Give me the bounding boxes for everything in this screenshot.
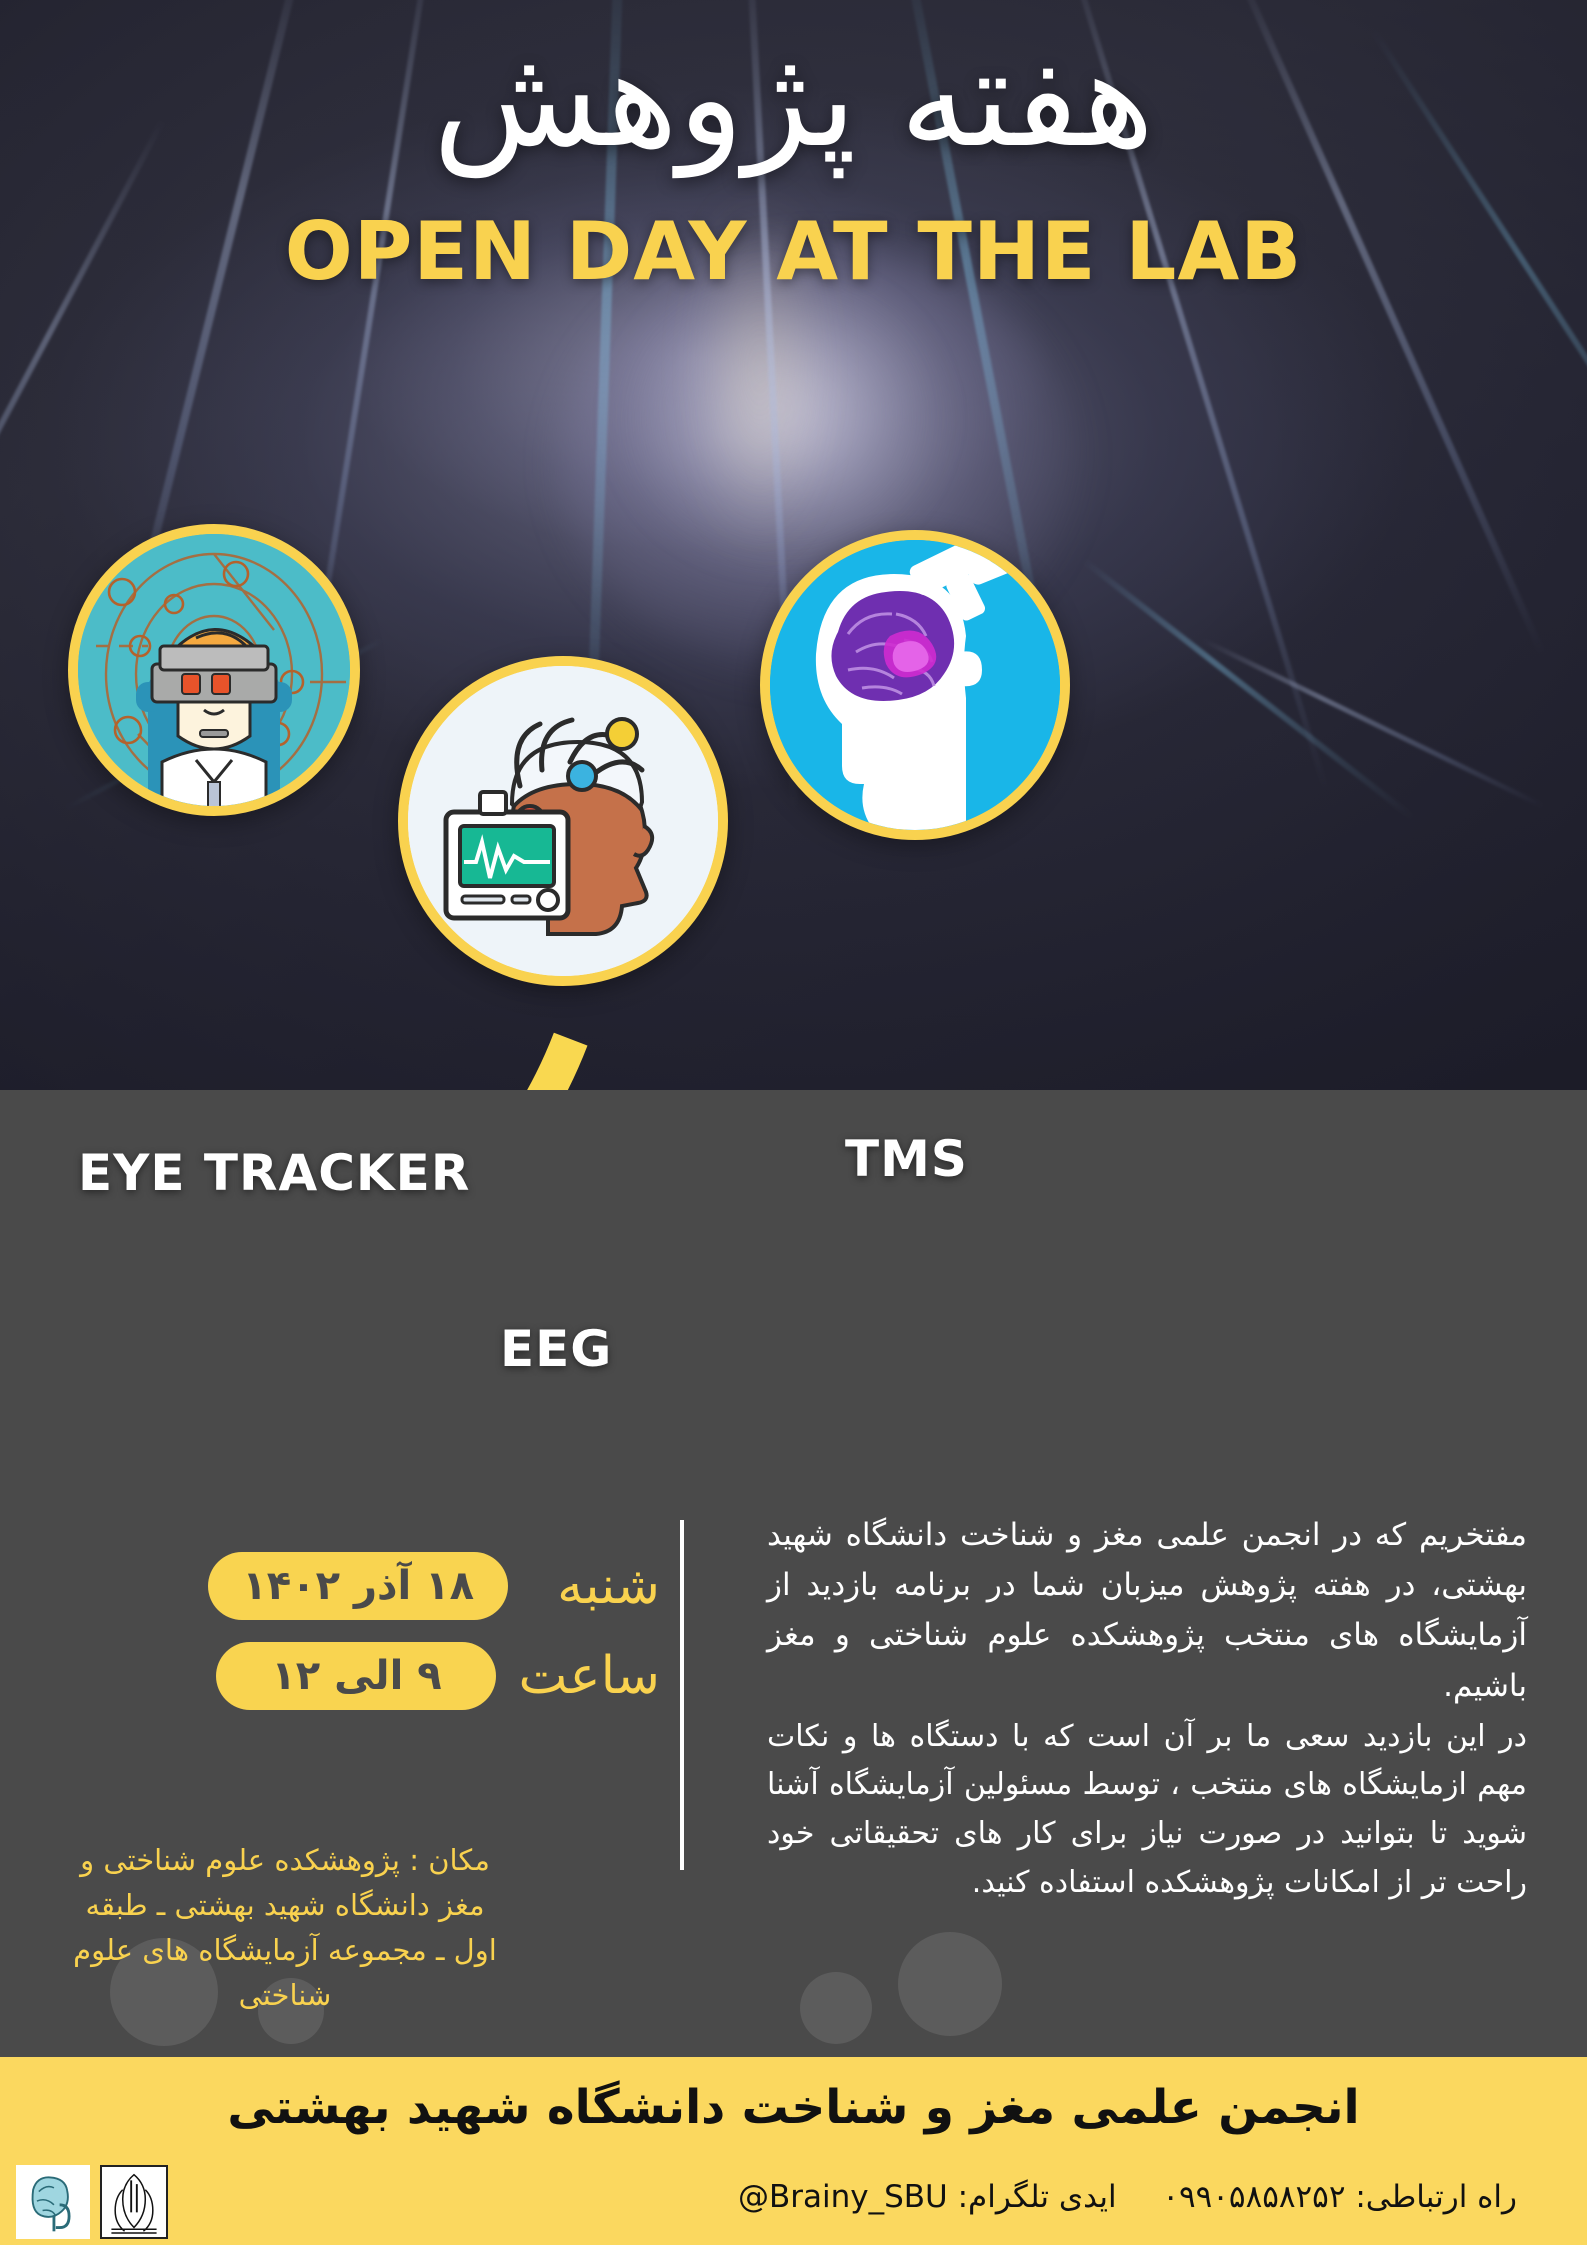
eeg-icon-circle[interactable] — [398, 656, 728, 986]
footer-contact-line: راه ارتباطی: ۰۹۹۰۵۸۵۸۲۵۲ ایدی تلگرام: @B… — [738, 2179, 1517, 2215]
tms-icon — [770, 540, 1060, 830]
footer-logos — [16, 2165, 168, 2239]
sbu-logo-icon — [102, 2167, 166, 2237]
description-paragraph-1: مفتخریم که در انجمن علمی مغز و شناخت دان… — [767, 1510, 1527, 1711]
schedule-block: شنبه ۱۸ آذر ۱۴۰۲ ساعت ۹ الی ۱۲ — [80, 1552, 660, 1732]
footer-bar: راه ارتباطی: ۰۹۹۰۵۸۵۸۲۵۲ ایدی تلگرام: @B… — [0, 2157, 1587, 2245]
poster-root: هفته پژوهش OPEN DAY AT THE LAB — [0, 0, 1587, 2245]
organization-banner: انجمن علمی مغز و شناخت دانشگاه شهید بهشت… — [0, 2057, 1587, 2157]
schedule-time-label: ساعت — [518, 1650, 660, 1702]
brainy-sbu-association-logo — [16, 2165, 90, 2239]
eye-tracker-label: EYE TRACKER — [78, 1144, 470, 1202]
description-block: مفتخریم که در انجمن علمی مغز و شناخت دان… — [767, 1510, 1527, 1907]
eye-tracker-icon-circle[interactable] — [68, 524, 360, 816]
eeg-label: EEG — [500, 1320, 612, 1378]
page-title-english: OPEN DAY AT THE LAB — [0, 212, 1587, 292]
page-title-persian: هفته پژوهش — [0, 28, 1587, 171]
eeg-icon — [408, 666, 718, 976]
bokeh-dot — [800, 1972, 872, 2044]
telegram-handle[interactable]: @Brainy_SBU — [738, 2179, 948, 2215]
brain-icon — [18, 2167, 88, 2237]
schedule-date-pill: ۱۸ آذر ۱۴۰۲ — [208, 1552, 508, 1620]
schedule-day-label: شنبه — [530, 1560, 660, 1612]
telegram-label: ایدی تلگرام: — [958, 2179, 1117, 2215]
contact-label: راه ارتباطی: — [1355, 2179, 1517, 2215]
shahid-beheshti-university-logo — [100, 2165, 168, 2239]
location-text: مکان : پژوهشکده علوم شناختی و مغز دانشگا… — [70, 1838, 500, 2018]
schedule-row-day: شنبه ۱۸ آذر ۱۴۰۲ — [80, 1552, 660, 1620]
eye-tracker-icon — [78, 534, 350, 806]
contact-phone: ۰۹۹۰۵۸۵۸۲۵۲ — [1162, 2179, 1345, 2215]
description-paragraph-2: در این بازدید سعی ما بر آن است که با دست… — [767, 1713, 1527, 1907]
vertical-divider — [680, 1520, 684, 1870]
organization-name: انجمن علمی مغز و شناخت دانشگاه شهید بهشت… — [227, 2080, 1359, 2135]
bokeh-dot — [898, 1932, 1002, 2036]
schedule-time-pill: ۹ الی ۱۲ — [216, 1642, 496, 1710]
tms-label: TMS — [845, 1130, 968, 1188]
tms-icon-circle[interactable] — [760, 530, 1070, 840]
schedule-row-time: ساعت ۹ الی ۱۲ — [80, 1642, 660, 1710]
